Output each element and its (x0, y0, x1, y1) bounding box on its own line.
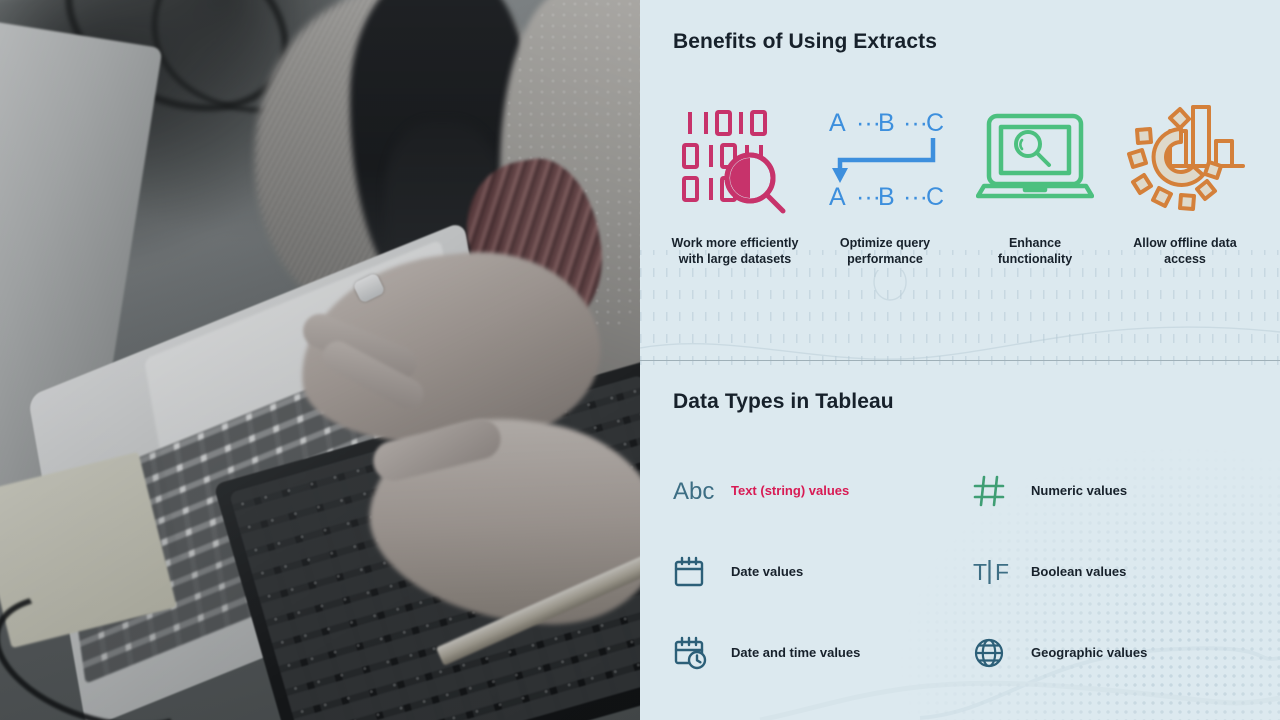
slide: Benefits of Using Extracts (0, 0, 1280, 720)
data-types-grid: Abc Text (string) values (673, 450, 1273, 693)
benefit-caption: Work more efficiently with large dataset… (671, 235, 799, 267)
data-type-item-date: Date values (673, 531, 973, 612)
svg-text:A: A (829, 109, 846, 137)
hands-typing-laptop-photo (0, 0, 640, 720)
benefit-caption: Enhance functionality (971, 235, 1099, 267)
data-type-label: Date values (731, 564, 803, 579)
svg-text:A: A (829, 183, 846, 211)
data-type-item-datetime: Date and time values (673, 612, 973, 693)
data-type-label: Boolean values (1031, 564, 1126, 579)
svg-text:···: ··· (903, 183, 928, 211)
data-type-item-boolean: TF Boolean values (973, 531, 1273, 612)
svg-text:F: F (995, 559, 1009, 585)
benefit-caption: Optimize query performance (821, 235, 949, 267)
data-type-item-text: Abc Text (string) values (673, 450, 973, 531)
true-false-icon: TF (973, 557, 1031, 587)
data-type-item-numeric: Numeric values (973, 450, 1273, 531)
photo-color-grade (0, 0, 640, 720)
benefit-item-1: A··· B··· C A··· B··· C (810, 95, 960, 267)
svg-text:C: C (926, 183, 944, 211)
content-panel: Benefits of Using Extracts (640, 0, 1280, 720)
svg-text:···: ··· (903, 109, 928, 137)
calendar-date-icon (673, 556, 731, 588)
benefit-item-0: Work more efficiently with large dataset… (660, 95, 810, 267)
binary-magnifier-icon (679, 95, 791, 220)
benefit-item-3: Allow offline data access (1110, 95, 1260, 267)
data-type-item-geographic: Geographic values (973, 612, 1273, 693)
svg-text:T: T (973, 559, 987, 585)
section-divider (640, 360, 1280, 361)
data-type-label: Numeric values (1031, 483, 1127, 498)
data-type-label: Geographic values (1031, 645, 1147, 660)
calendar-clock-icon (673, 636, 731, 670)
data-type-row: Date and time values (673, 612, 1273, 693)
benefits-grid: Work more efficiently with large dataset… (660, 95, 1260, 267)
data-type-label: Date and time values (731, 645, 860, 660)
svg-text:B: B (878, 109, 895, 137)
benefits-title: Benefits of Using Extracts (673, 30, 937, 54)
globe-geo-icon (973, 637, 1031, 669)
benefit-caption: Allow offline data access (1121, 235, 1249, 267)
query-optimize-arrow-icon: A··· B··· C A··· B··· C (823, 95, 947, 220)
abc-text-icon: Abc (673, 476, 731, 506)
hash-numeric-icon (973, 475, 1031, 507)
wave-decoration (640, 270, 1280, 390)
data-type-label: Text (string) values (731, 483, 849, 498)
svg-text:B: B (878, 183, 895, 211)
benefit-item-2: Enhance functionality (960, 95, 1110, 267)
data-type-row: Abc Text (string) values (673, 450, 1273, 531)
laptop-magnifier-icon (976, 95, 1094, 220)
gear-bar-chart-icon (1123, 95, 1247, 220)
svg-text:Abc: Abc (673, 478, 714, 505)
svg-text:C: C (926, 109, 944, 137)
data-types-title: Data Types in Tableau (673, 390, 894, 414)
data-type-row: Date values TF Boolean values (673, 531, 1273, 612)
